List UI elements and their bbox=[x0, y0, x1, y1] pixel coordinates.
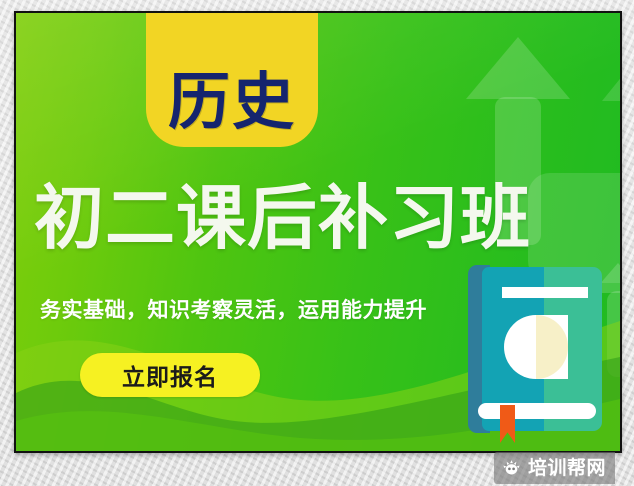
banner-subtitle: 务实基础，知识考察灵活，运用能力提升 bbox=[40, 294, 427, 324]
watermark: 培训帮网 bbox=[494, 452, 615, 484]
arrow-up-icon-edge bbox=[602, 59, 622, 101]
page-title: 初二课后补习班 bbox=[34, 183, 612, 253]
arrow-stem bbox=[621, 99, 622, 209]
enroll-now-button-label: 立即报名 bbox=[122, 358, 218, 392]
page-backdrop: 历史 初二课后补习班 务实基础，知识考察灵活，运用能力提升 立即报名 bbox=[0, 0, 634, 486]
course-promo-banner: 历史 初二课后补习班 务实基础，知识考察灵活，运用能力提升 立即报名 bbox=[14, 11, 622, 453]
book-illustration bbox=[468, 265, 604, 433]
enroll-now-button[interactable]: 立即报名 bbox=[80, 353, 260, 397]
subject-badge-label: 历史 bbox=[168, 71, 296, 133]
book-bottom-band bbox=[478, 403, 596, 419]
book-top-band bbox=[502, 287, 588, 298]
watermark-text: 培训帮网 bbox=[528, 459, 606, 478]
subject-badge: 历史 bbox=[146, 11, 318, 147]
sun-face-logo-icon bbox=[501, 458, 522, 479]
arrow-up-icon bbox=[466, 37, 570, 99]
